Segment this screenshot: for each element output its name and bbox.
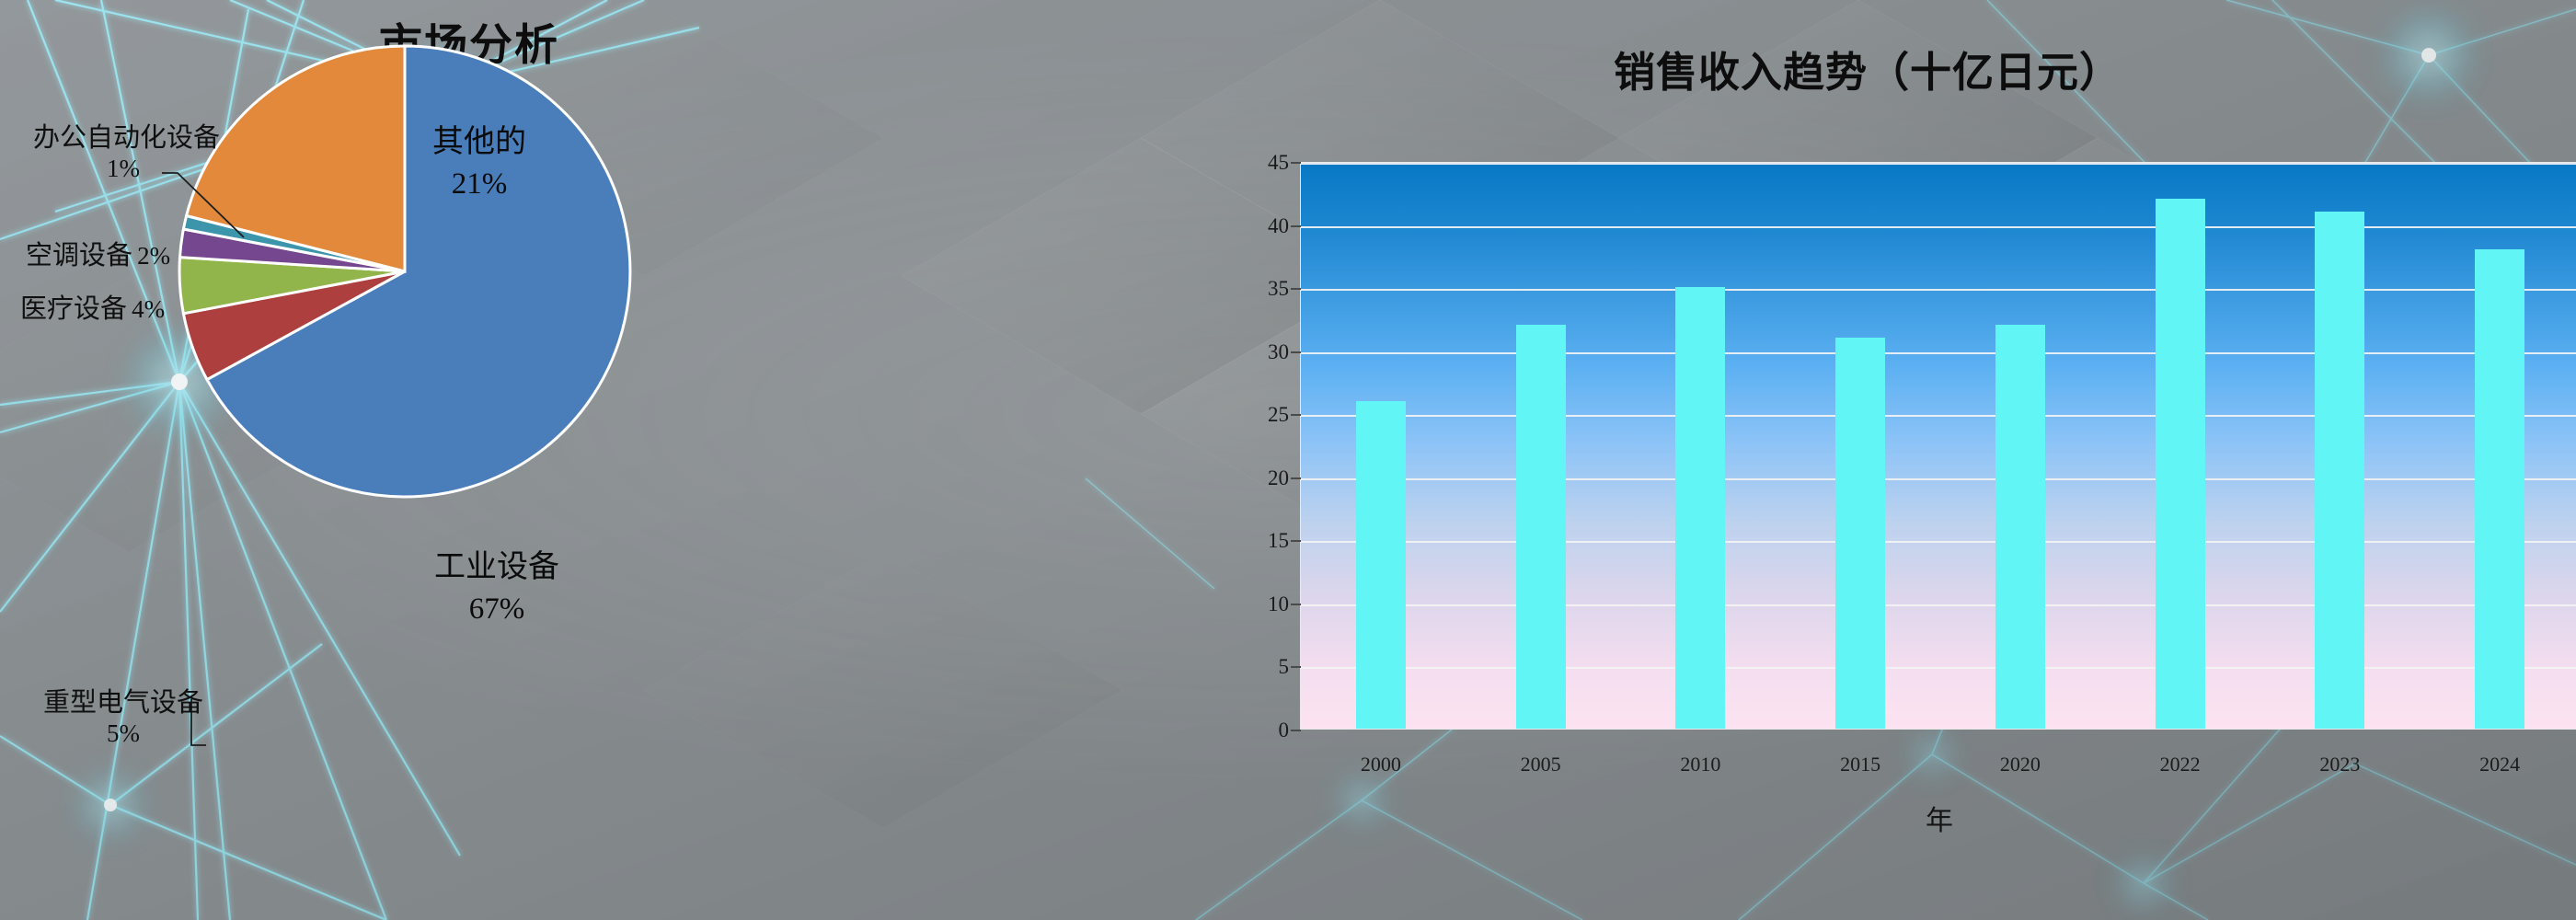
bar-chart-plot-area: 0510152025303540452000200520102015202020…	[1300, 162, 2576, 730]
y-tick-label: 0	[1279, 719, 1290, 742]
pie-label-medical: 医疗设备 4%	[20, 293, 165, 325]
y-tick-mark	[1291, 730, 1301, 731]
y-tick-mark	[1291, 666, 1301, 668]
sales-revenue-bar-panel: 销售收入趋势（十亿日元） 051015202530354045200020052…	[1214, 0, 2576, 920]
y-tick-mark	[1291, 477, 1301, 479]
bar[interactable]	[1995, 325, 2045, 729]
pie-label-heavy-electrical: 重型电气设备 5%	[31, 686, 215, 749]
bar[interactable]	[1835, 338, 1885, 729]
bar[interactable]	[2315, 212, 2364, 729]
x-tick-label: 2022	[2160, 753, 2201, 776]
bar[interactable]	[2475, 249, 2524, 729]
y-tick-label: 15	[1268, 529, 1289, 553]
pie-label-industrial: 工业设备 67%	[382, 546, 612, 629]
pie-label-others: 其他的 21%	[374, 121, 585, 204]
y-tick-label: 5	[1279, 655, 1290, 679]
gridline	[1301, 541, 2576, 543]
y-tick-label: 20	[1268, 466, 1289, 490]
y-tick-mark	[1291, 414, 1301, 416]
gridline	[1301, 163, 2576, 165]
pie-label-air-conditioning: 空调设备 2%	[26, 239, 170, 271]
x-tick-label: 2015	[1840, 753, 1880, 776]
x-tick-label: 2000	[1361, 753, 1401, 776]
gridline	[1301, 604, 2576, 606]
x-tick-label: 2010	[1680, 753, 1720, 776]
gridline	[1301, 478, 2576, 480]
gridline	[1301, 226, 2576, 228]
y-tick-label: 35	[1268, 277, 1289, 301]
y-tick-mark	[1291, 351, 1301, 353]
gridline	[1301, 352, 2576, 354]
y-tick-label: 10	[1268, 592, 1289, 616]
y-tick-mark	[1291, 540, 1301, 542]
y-tick-mark	[1291, 604, 1301, 605]
bar[interactable]	[2156, 199, 2205, 729]
market-analysis-pie-panel: 市场分析	[0, 0, 1214, 920]
bar[interactable]	[1675, 287, 1725, 729]
pie-label-office-automation: 办公自动化设备 1%	[33, 121, 213, 184]
y-tick-label: 40	[1268, 214, 1289, 238]
bar[interactable]	[1516, 325, 1566, 729]
gridline	[1301, 415, 2576, 417]
x-tick-label: 2005	[1521, 753, 1561, 776]
y-tick-mark	[1291, 225, 1301, 227]
gridline	[1301, 289, 2576, 291]
y-tick-label: 45	[1268, 151, 1289, 175]
y-tick-mark	[1291, 162, 1301, 164]
bar-chart-title: 销售收入趋势（十亿日元）	[1270, 39, 2466, 98]
x-tick-label: 2023	[2319, 753, 2360, 776]
y-tick-mark	[1291, 288, 1301, 290]
gridline	[1301, 667, 2576, 669]
bar[interactable]	[1356, 401, 1406, 729]
slide-canvas: 市场分析	[0, 0, 2576, 920]
x-tick-label: 2024	[2479, 753, 2520, 776]
x-tick-label: 2020	[2000, 753, 2041, 776]
x-axis-label: 年	[1926, 798, 1953, 838]
y-tick-label: 25	[1268, 403, 1289, 427]
y-tick-label: 30	[1268, 340, 1289, 364]
